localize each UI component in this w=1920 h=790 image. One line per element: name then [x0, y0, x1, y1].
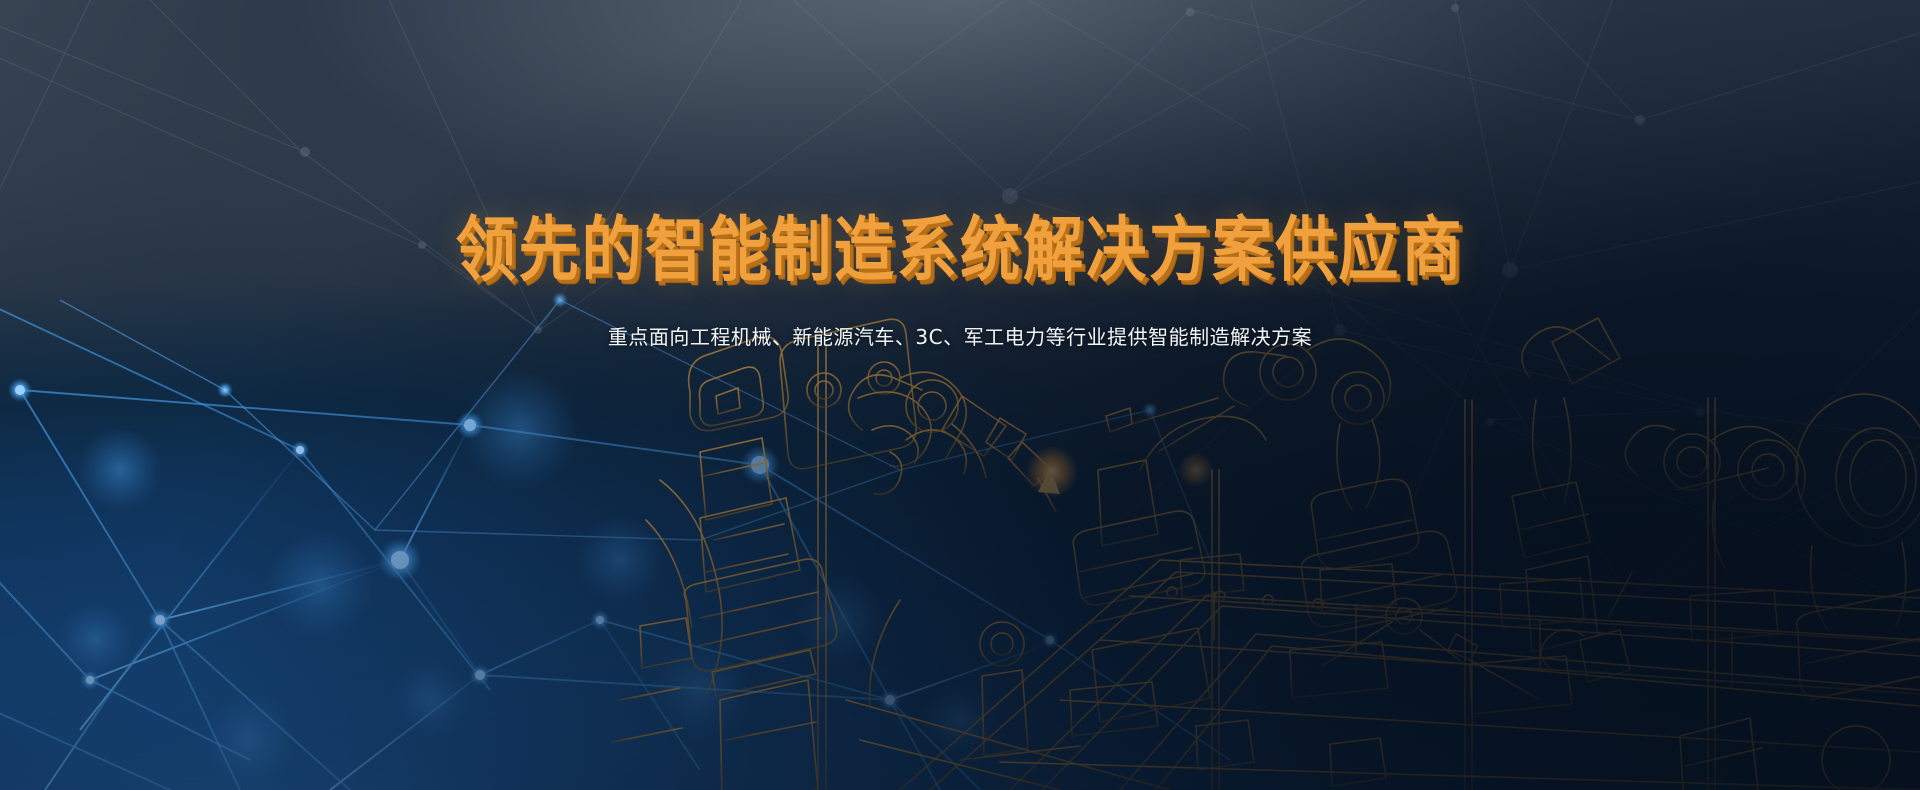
blue-node-network-constellation: [0, 0, 1920, 790]
bottom-vignette-overlay: [0, 0, 1920, 790]
hero-text-block: 领先的智能制造系统解决方案供应商 重点面向工程机械、新能源汽车、3C、军工电力等…: [0, 208, 1920, 350]
orange-line-art-industrial-robot-assembly-line: [0, 0, 1920, 790]
hero-subtitle: 重点面向工程机械、新能源汽车、3C、军工电力等行业提供智能制造解决方案: [0, 321, 1920, 350]
page-title: 领先的智能制造系统解决方案供应商: [29, 208, 1891, 291]
grey-node-network-constellation: [0, 0, 1920, 790]
hero-banner: 领先的智能制造系统解决方案供应商 重点面向工程机械、新能源汽车、3C、军工电力等…: [0, 0, 1920, 790]
right-vignette-overlay: [0, 0, 1920, 790]
